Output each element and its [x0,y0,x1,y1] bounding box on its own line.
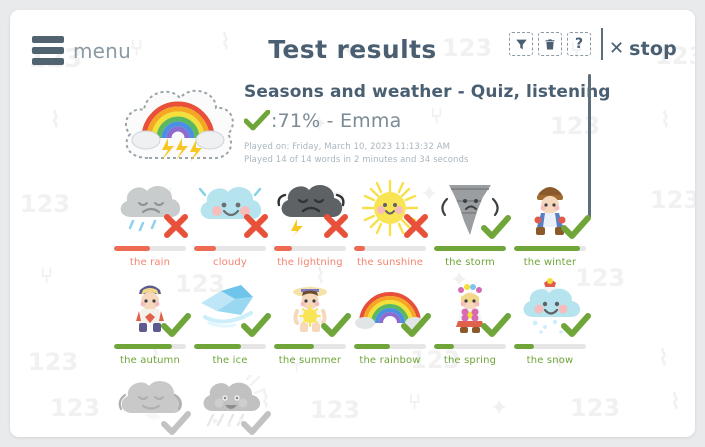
filter-button[interactable] [509,32,533,56]
word-label: the spring [444,355,496,366]
autumn-kid-icon [114,275,186,337]
wrong-mark-icon [241,211,271,241]
progress-bar [354,246,426,251]
tornado-icon [434,177,506,239]
help-button[interactable]: ? [567,32,591,56]
progress-bar [114,344,186,349]
app-window: 123 ⑂ ⌇ ✦ 123 ⑂ 123 ⌇ 123 ✦ ⑂ 123 ⌇ 123 … [10,10,695,437]
word-label: the sunshine [357,257,423,268]
word-cell-the-snow[interactable]: the snow [510,273,590,366]
word-row: the rain [10,175,695,273]
progress-bar [514,344,586,349]
word-cell-the-rain[interactable]: the rain [110,175,190,268]
word-cell-the-rainbow[interactable]: the rainbow [350,273,430,366]
word-cell-partial-2[interactable] [190,371,270,435]
spring-girl-icon [434,275,506,337]
wrong-mark-icon [321,211,351,241]
word-label: the summer [279,355,341,366]
progress-bar [194,344,266,349]
cloudy-icon [194,177,266,239]
progress-bar [514,246,586,251]
stop-button[interactable]: ✕ stop [609,38,677,60]
snow-cloud-icon [514,275,586,337]
word-label: the autumn [120,355,180,366]
word-label: the winter [524,257,577,268]
progress-bar [194,246,266,251]
played-words-text: Played 14 of 14 words in 2 minutes and 3… [244,155,469,165]
word-cell-cloudy[interactable]: cloudy [190,175,270,268]
correct-mark-icon [321,313,351,339]
correct-mark-icon [241,411,271,437]
correct-mark-icon [401,313,431,339]
progress-bar [434,344,506,349]
correct-mark-icon [161,411,191,437]
progress-bar [434,246,506,251]
word-label: the snow [527,355,574,366]
filter-icon [515,38,528,51]
header-tools: ? [509,32,591,56]
progress-bar [354,344,426,349]
word-label: the lightning [277,257,343,268]
stop-label: stop [629,38,677,60]
word-label: cloudy [213,257,247,268]
word-cell-the-spring[interactable]: the spring [430,273,510,366]
quiz-title: Seasons and weather - Quiz, listening [244,82,611,102]
ice-icon [194,275,266,337]
wrong-mark-icon [401,211,431,241]
lightning-cloud-icon [274,177,346,239]
progress-bar [114,246,186,251]
close-icon: ✕ [609,40,624,58]
quiz-summary: Seasons and weather - Quiz, listening :7… [10,72,695,175]
word-cell-the-sunshine[interactable]: the sunshine [350,175,430,268]
wrong-mark-icon [161,211,191,241]
correct-mark-icon [161,313,191,339]
score-text: :71% - Emma [271,110,401,132]
rainbow-icon [354,275,426,337]
word-cell-the-summer[interactable]: the summer [270,273,350,366]
summer-kid-icon [274,275,346,337]
word-label: the ice [212,355,247,366]
word-cell-the-autumn[interactable]: the autumn [110,273,190,366]
word-cell-partial-1[interactable] [110,371,190,435]
header-divider [601,28,603,60]
rain-cloud-icon [114,177,186,239]
word-cell-the-ice[interactable]: the ice [190,273,270,366]
correct-mark-icon [561,215,591,241]
delete-button[interactable] [538,32,562,56]
word-cell-the-winter[interactable]: the winter [510,175,590,268]
word-grid: the rain [10,175,695,437]
progress-bar [274,344,346,349]
word-label: the rainbow [359,355,420,366]
word-label: the rain [130,257,170,268]
sun-icon [354,177,426,239]
rainbow-cloud-badge [118,80,238,176]
word-row: the autumn the ice [10,273,695,371]
help-icon: ? [575,37,583,51]
page-title: Test results [10,35,695,64]
correct-mark-icon [481,313,511,339]
word-row [10,371,695,437]
correct-mark-icon [561,313,591,339]
score-line: :71% - Emma [244,110,401,132]
check-icon [244,110,270,132]
trash-icon [544,38,556,51]
rain-cloud-happy-icon [194,373,266,435]
app-header: menu Test results ? ✕ stop [10,10,695,72]
played-on-text: Played on: Friday, March 10, 2023 11:13:… [244,142,450,152]
word-label: the storm [445,257,495,268]
correct-mark-icon [481,215,511,241]
storm-cloud-icon [114,373,186,435]
word-cell-the-lightning[interactable]: the lightning [270,175,350,268]
correct-mark-icon [241,313,271,339]
progress-bar [274,246,346,251]
winter-kid-icon [514,177,586,239]
word-cell-the-storm[interactable]: the storm [430,175,510,268]
